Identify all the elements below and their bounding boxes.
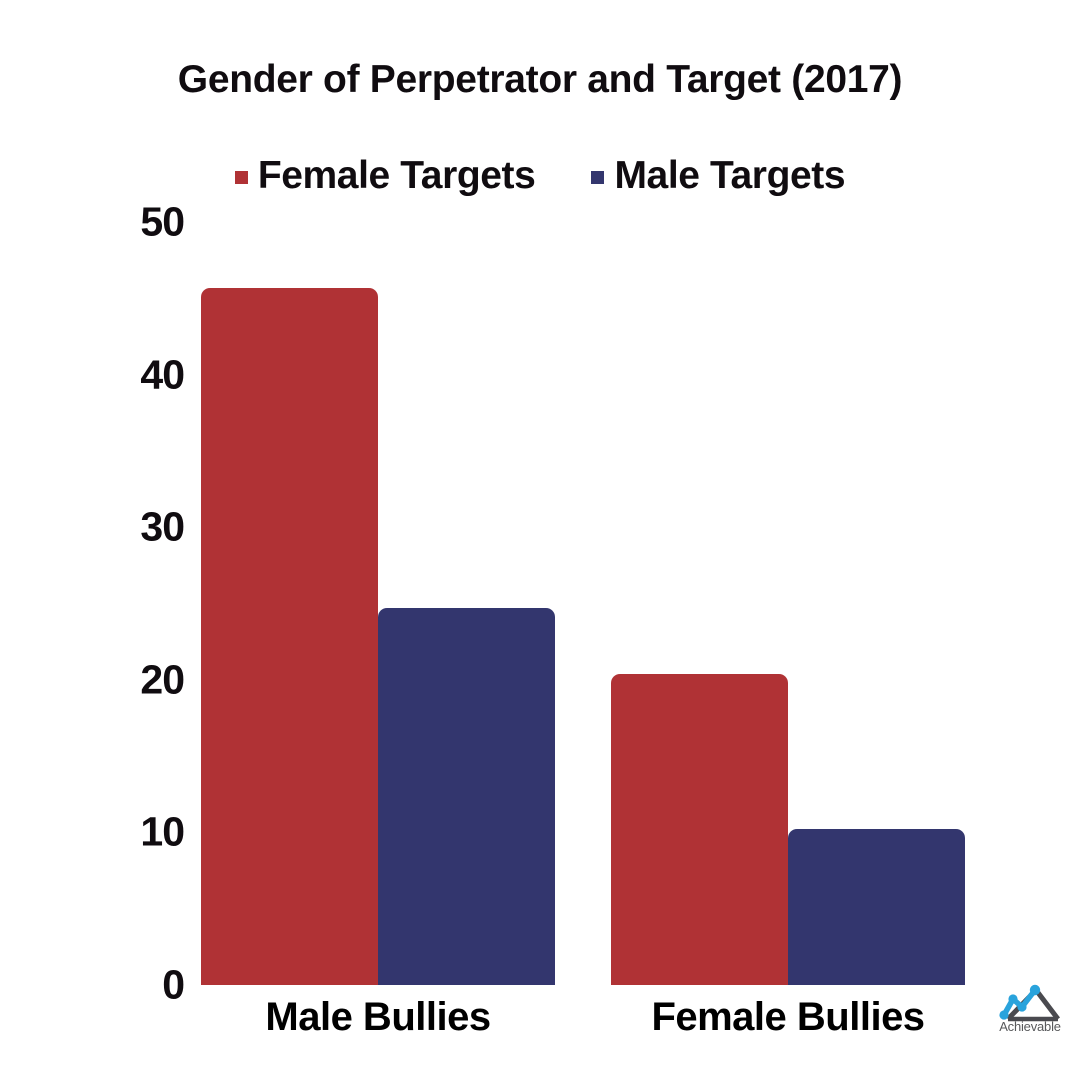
legend-item-female-targets[interactable]: Female Targets — [235, 154, 536, 198]
y-axis-tick-0: 0 — [96, 962, 184, 1009]
legend-label-female-targets: Female Targets — [258, 154, 536, 198]
chart-title: Gender of Perpetrator and Target (2017) — [0, 58, 1080, 102]
y-axis-tick-10: 10 — [96, 809, 184, 856]
legend-swatch-male-targets — [591, 171, 604, 184]
legend-swatch-female-targets — [235, 171, 248, 184]
achievable-logo[interactable]: Achievable — [984, 979, 1076, 1041]
legend-label-male-targets: Male Targets — [614, 154, 845, 198]
legend-item-male-targets[interactable]: Male Targets — [591, 154, 845, 198]
plot-area — [201, 222, 966, 985]
y-axis: 01020304050 — [96, 222, 184, 985]
bar-group-female-bullies — [611, 222, 965, 985]
y-axis-tick-40: 40 — [96, 351, 184, 398]
achievable-logo-text: Achievable — [984, 1019, 1076, 1034]
x-axis-label-female-bullies: Female Bullies — [611, 995, 965, 1040]
chart-legend: Female Targets Male Targets — [0, 154, 1080, 198]
bar-male-bullies-female-targets[interactable] — [201, 288, 378, 985]
bar-female-bullies-male-targets[interactable] — [788, 829, 965, 985]
bar-female-bullies-female-targets[interactable] — [611, 674, 788, 985]
y-axis-tick-20: 20 — [96, 656, 184, 703]
x-axis-label-male-bullies: Male Bullies — [201, 995, 555, 1040]
y-axis-tick-50: 50 — [96, 199, 184, 246]
y-axis-tick-30: 30 — [96, 504, 184, 551]
achievable-line-chart-mountain-icon — [984, 979, 1076, 1023]
bar-male-bullies-male-targets[interactable] — [378, 608, 555, 985]
bar-group-male-bullies — [201, 222, 555, 985]
x-axis: Male Bullies Female Bullies — [201, 995, 966, 1059]
bar-chart: Gender of Perpetrator and Target (2017) … — [0, 0, 1080, 1080]
